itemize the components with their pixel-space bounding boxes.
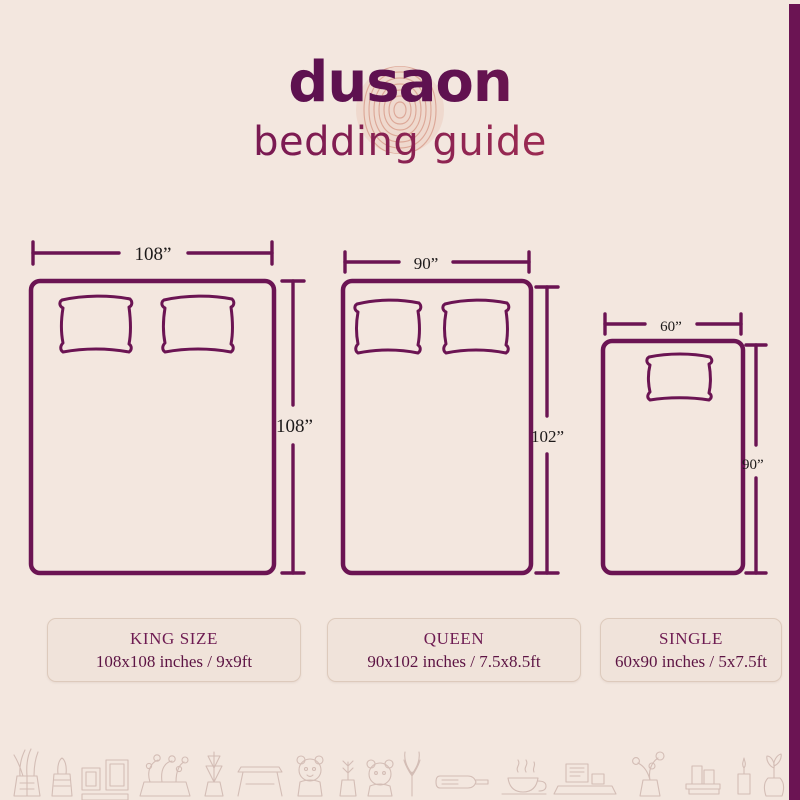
size-card-king-spec: 108x108 inches / 9x9ft [48,650,300,673]
doodle-picture-frames [82,760,128,800]
doodle-candle [738,758,750,794]
infographic-canvas: dusaon bedding guide [0,0,800,800]
bed-king [31,281,274,573]
doodle-cone-plant [205,752,223,796]
doodle-border-strip [0,736,800,800]
doodle-wheat-pot [340,761,356,796]
size-card-single-title: SINGLE [601,628,781,650]
header: dusaon bedding guide [0,52,800,182]
doodle-teddy-bear [297,756,323,796]
size-card-single-spec: 60x90 inches / 5x7.5ft [601,650,781,673]
dim-label-queen-height: 102” [531,427,564,446]
dim-label-king-height: 108” [276,416,313,437]
size-card-single[interactable]: SINGLE 60x90 inches / 5x7.5ft [600,618,782,682]
doodle-cactus-pot [52,758,72,796]
bed-diagrams: 108” 90” 60” 108” 102” 90” [0,230,800,600]
doodle-orchid [633,752,664,796]
page-title: bedding guide [0,118,800,166]
size-label-cards: KING SIZE 108x108 inches / 9x9ft QUEEN 9… [0,618,800,698]
bed-single [603,341,743,573]
size-card-king-title: KING SIZE [48,628,300,650]
dim-label-king-width: 108” [135,244,172,265]
doodle-teddy-bear-2 [367,760,393,796]
bed-queen [343,281,531,573]
doodle-pampas [404,752,420,796]
doodle-teacup [502,760,546,794]
dim-label-single-width: 60” [660,319,682,335]
size-card-queen-title: QUEEN [328,628,580,650]
doodle-potted-grass [14,749,40,796]
dim-label-single-height: 90” [742,457,764,473]
doodle-leaf-vase [764,754,783,796]
doodle-planter-box [140,755,190,796]
doodle-books [686,766,720,794]
doodle-laptop-desk [554,764,616,794]
size-card-king[interactable]: KING SIZE 108x108 inches / 9x9ft [47,618,301,682]
bed-size-comparison-svg: 108” 90” 60” 108” 102” 90” [0,230,800,600]
doodle-bottle [436,776,488,788]
brand-name: dusaon [0,52,800,114]
dim-label-queen-width: 90” [414,254,439,273]
size-card-queen-spec: 90x102 inches / 7.5x8.5ft [328,650,580,673]
doodle-stool [238,767,282,796]
size-card-queen[interactable]: QUEEN 90x102 inches / 7.5x8.5ft [327,618,581,682]
